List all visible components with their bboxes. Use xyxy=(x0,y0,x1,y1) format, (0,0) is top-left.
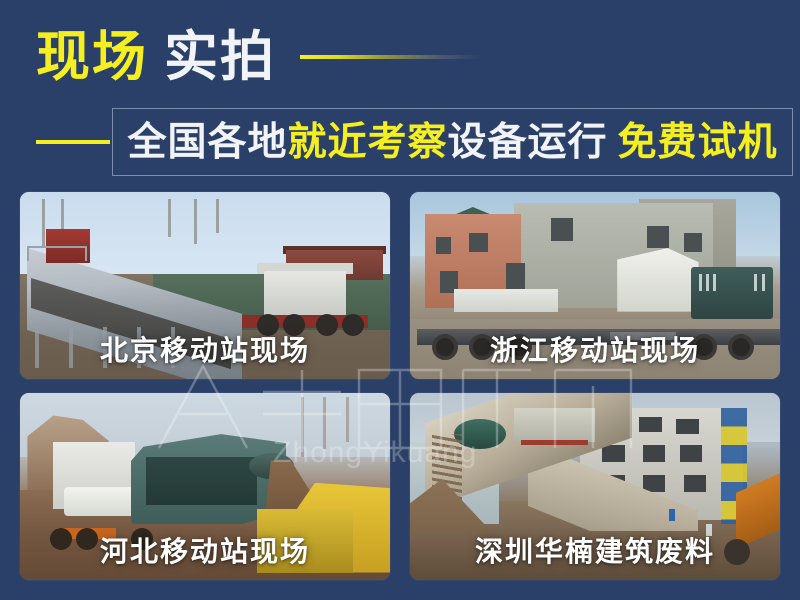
gallery-card-zhejiang[interactable]: 浙江移动站现场 xyxy=(410,192,780,379)
page-title: 现场 实拍 xyxy=(36,26,480,88)
title-rule-divider xyxy=(300,55,480,59)
title-highlight: 现场 xyxy=(36,26,148,88)
photo-gallery-grid: 北京移动站现场 xyxy=(20,192,780,580)
gallery-card-beijing[interactable]: 北京移动站现场 xyxy=(20,192,390,379)
promo-banner: 现场 实拍 全国各地就近考察设备运行免费试机 xyxy=(0,0,800,600)
banner-header: 现场 实拍 全国各地就近考察设备运行免费试机 xyxy=(0,0,800,192)
subtitle-box: 全国各地就近考察设备运行免费试机 xyxy=(112,108,793,176)
subtitle-segment-1: 全国各地 xyxy=(127,120,287,165)
photo-caption: 浙江移动站现场 xyxy=(410,336,780,367)
subtitle-segment-2: 就近考察 xyxy=(287,120,447,165)
gallery-cell: 河北移动站现场 xyxy=(20,386,400,580)
gallery-card-shenzhen[interactable]: 深圳华楠建筑废料 xyxy=(410,393,780,580)
gallery-cell: 北京移动站现场 xyxy=(20,192,400,386)
subtitle-segment-3: 设备运行 xyxy=(448,120,608,165)
photo-caption: 深圳华楠建筑废料 xyxy=(410,537,780,568)
subtitle-line: 全国各地就近考察设备运行免费试机 xyxy=(127,123,777,162)
subtitle-dash-divider xyxy=(36,140,110,144)
photo-caption: 北京移动站现场 xyxy=(20,336,390,367)
gallery-card-hebei[interactable]: 河北移动站现场 xyxy=(20,393,390,580)
photo-caption: 河北移动站现场 xyxy=(20,537,390,568)
gallery-cell: 深圳华楠建筑废料 xyxy=(400,386,780,580)
gallery-cell: 浙江移动站现场 xyxy=(400,192,780,386)
subtitle-segment-4: 免费试机 xyxy=(618,120,778,165)
title-rest: 实拍 xyxy=(164,26,276,88)
